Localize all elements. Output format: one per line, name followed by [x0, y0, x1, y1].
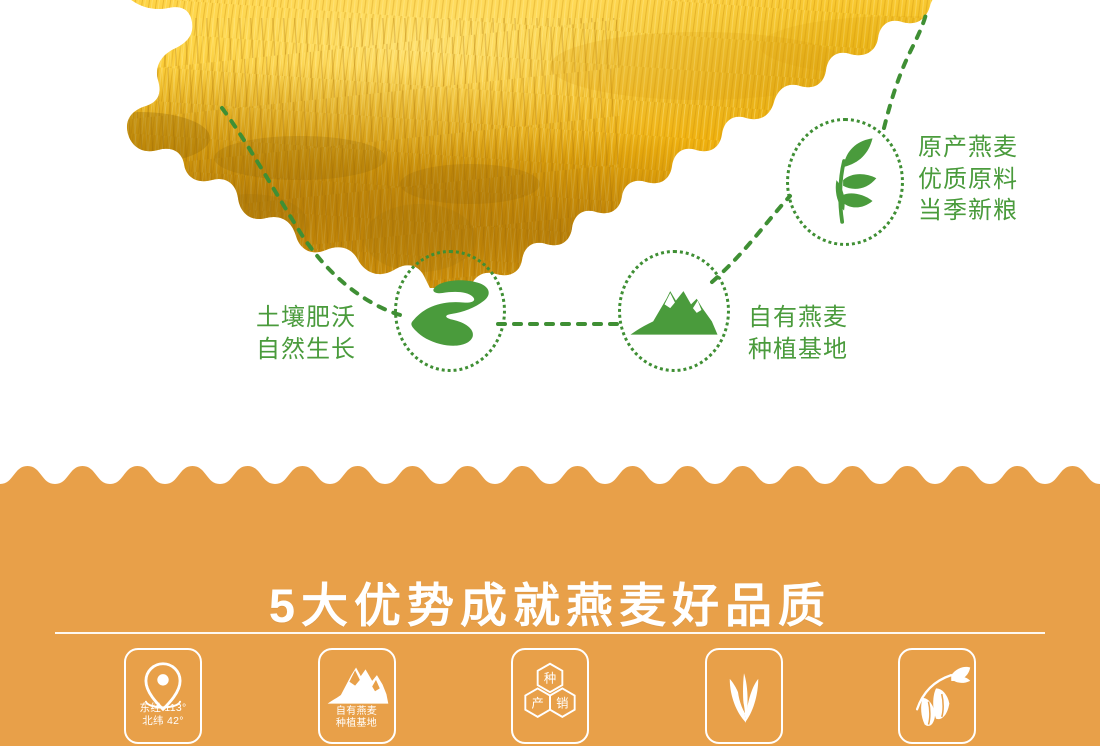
feature-card-oat-spike[interactable]: [898, 648, 976, 744]
feature-caption-coordinates: 东经 113° 北纬 42°: [126, 702, 200, 728]
svg-text:销: 销: [556, 696, 568, 710]
feature-caption-planting-base: 自有燕麦 种植基地: [320, 706, 394, 730]
connector-soil: [222, 108, 404, 316]
node-planting-base-label: 自有燕麦 种植基地: [748, 302, 848, 365]
svg-text:产: 产: [531, 696, 543, 710]
oat-shoot-icon: [707, 650, 781, 742]
feature-card-supply-chain[interactable]: 种 产 销: [511, 648, 589, 744]
node-planting-base[interactable]: [618, 250, 730, 372]
feature-card-coordinates[interactable]: 东经 113° 北纬 42°: [124, 648, 202, 744]
node-soil-label: 土壤肥沃 自然生长: [256, 302, 356, 365]
mountain-icon: [621, 253, 727, 369]
feature-card-sprout[interactable]: [705, 648, 783, 744]
feature-card-planting-base[interactable]: 自有燕麦 种植基地: [318, 648, 396, 744]
oat-sprout-icon: [789, 121, 901, 243]
banner-divider: [55, 632, 1045, 634]
honeycomb-icon: 种 产 销: [513, 650, 587, 742]
node-soil[interactable]: [394, 250, 506, 372]
location-pin-icon: [126, 650, 200, 742]
product-detail-page: 土壤肥沃 自然生长 自有燕麦 种植基地 原产燕麦 优质原料 当季新粮: [0, 0, 1100, 746]
diagram-connectors: [0, 0, 1100, 470]
feature-row: 东经 113° 北纬 42° 自有燕麦 种植基地: [0, 648, 1100, 746]
hero-section: 土壤肥沃 自然生长 自有燕麦 种植基地 原产燕麦 优质原料 当季新粮: [0, 0, 1100, 470]
terrain-field-icon: [397, 253, 503, 369]
node-origin-oat[interactable]: [786, 118, 904, 246]
advantages-banner: 5大优势成就燕麦好品质 东经 113° 北纬 42°: [0, 462, 1100, 746]
banner-title: 5大优势成就燕麦好品质: [0, 567, 1100, 636]
svg-text:种: 种: [544, 672, 556, 686]
oat-grain-icon: [900, 650, 974, 742]
node-origin-oat-label: 原产燕麦 优质原料 当季新粮: [918, 132, 1018, 227]
connector-origin: [884, 14, 926, 128]
